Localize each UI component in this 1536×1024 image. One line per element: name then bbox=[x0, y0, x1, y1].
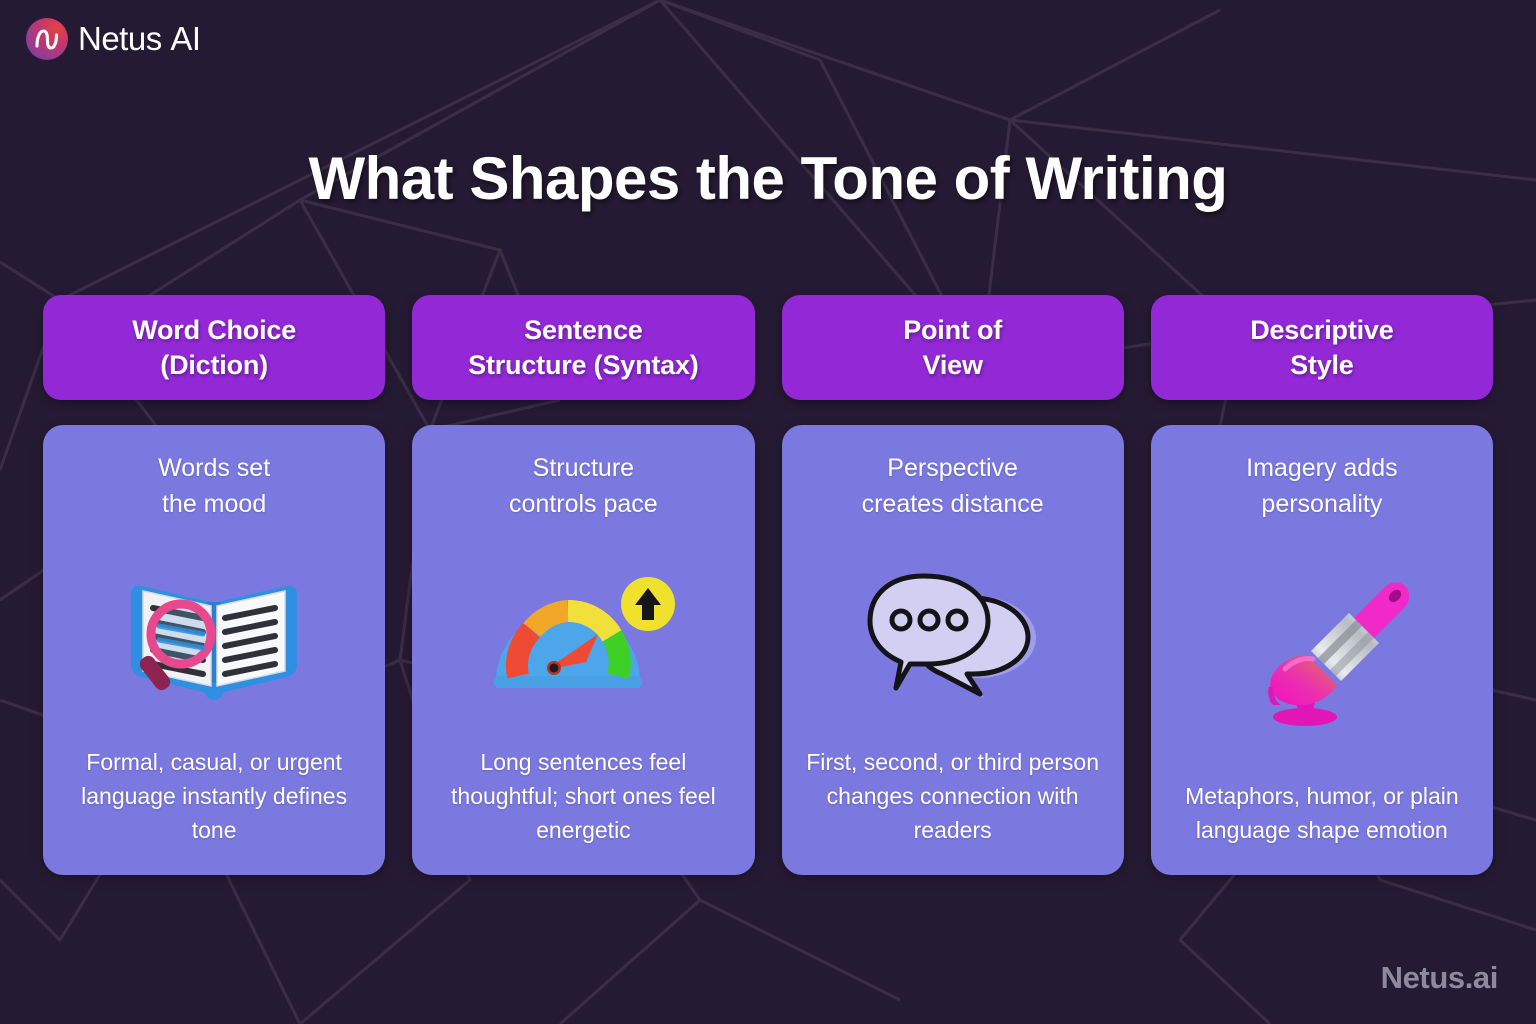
body-card-descriptive-style: Imagery adds personality bbox=[1151, 425, 1493, 875]
header-line-2: Structure (Syntax) bbox=[468, 350, 698, 380]
lead-line-2: creates distance bbox=[862, 490, 1044, 518]
card-icon-slot bbox=[426, 522, 740, 745]
page-title: What Shapes the Tone of Writing bbox=[0, 144, 1536, 213]
card-description: Formal, casual, or urgent language insta… bbox=[57, 745, 371, 851]
header-line-1: Descriptive bbox=[1250, 315, 1393, 345]
header-card-label: Point of View bbox=[893, 313, 1012, 382]
header-line-1: Word Choice bbox=[132, 315, 296, 345]
speech-bubbles-icon bbox=[858, 558, 1048, 708]
card-icon-slot bbox=[57, 522, 371, 745]
body-card-point-of-view: Perspective creates distance bbox=[782, 425, 1124, 875]
column-descriptive-style: Descriptive Style Imagery adds personali… bbox=[1151, 295, 1493, 875]
factor-columns: Word Choice (Diction) Words set the mood bbox=[43, 295, 1493, 875]
header-card-label: Sentence Structure (Syntax) bbox=[458, 313, 708, 382]
card-description: Metaphors, humor, or plain language shap… bbox=[1165, 779, 1479, 851]
column-word-choice: Word Choice (Diction) Words set the mood bbox=[43, 295, 385, 875]
card-description: First, second, or third person changes c… bbox=[796, 745, 1110, 851]
netus-n-mark-icon bbox=[26, 18, 68, 60]
lead-line-1: Words set bbox=[158, 454, 270, 482]
lead-line-2: controls pace bbox=[509, 490, 658, 518]
card-lead-text: Structure controls pace bbox=[509, 451, 658, 522]
paintbrush-icon bbox=[1227, 565, 1417, 735]
lead-line-1: Perspective bbox=[887, 454, 1018, 482]
card-description: Long sentences feel thoughtful; short on… bbox=[426, 745, 740, 851]
card-lead-text: Imagery adds personality bbox=[1246, 451, 1397, 522]
header-line-2: View bbox=[923, 350, 983, 380]
column-sentence-structure: Sentence Structure (Syntax) Structure co… bbox=[412, 295, 754, 875]
header-card-descriptive-style[interactable]: Descriptive Style bbox=[1151, 295, 1493, 400]
lead-line-2: the mood bbox=[162, 490, 266, 518]
header-line-2: (Diction) bbox=[160, 350, 268, 380]
brand-logo[interactable]: Netus AI bbox=[26, 18, 201, 60]
lead-line-1: Structure bbox=[533, 454, 634, 482]
open-book-magnifier-icon bbox=[119, 558, 309, 708]
card-icon-slot bbox=[796, 522, 1110, 745]
card-lead-text: Perspective creates distance bbox=[862, 451, 1044, 522]
header-line-1: Sentence bbox=[524, 315, 642, 345]
card-lead-text: Words set the mood bbox=[158, 451, 270, 522]
brand-logo-text: Netus AI bbox=[78, 20, 201, 58]
header-line-2: Style bbox=[1290, 350, 1354, 380]
brand-suffix: AI bbox=[170, 20, 200, 57]
column-point-of-view: Point of View Perspective creates distan… bbox=[782, 295, 1124, 875]
body-card-sentence-structure: Structure controls pace bbox=[412, 425, 754, 875]
header-line-1: Point of bbox=[903, 315, 1002, 345]
header-card-label: Descriptive Style bbox=[1240, 313, 1403, 382]
header-card-sentence-structure[interactable]: Sentence Structure (Syntax) bbox=[412, 295, 754, 400]
lead-line-2: personality bbox=[1261, 490, 1382, 518]
brand-name: Netus bbox=[78, 20, 162, 57]
header-card-point-of-view[interactable]: Point of View bbox=[782, 295, 1124, 400]
speedometer-gauge-icon bbox=[488, 558, 678, 708]
lead-line-1: Imagery adds bbox=[1246, 454, 1397, 482]
body-card-word-choice: Words set the mood bbox=[43, 425, 385, 875]
watermark-netus-ai: Netus.ai bbox=[1381, 960, 1498, 996]
header-card-word-choice[interactable]: Word Choice (Diction) bbox=[43, 295, 385, 400]
card-icon-slot bbox=[1165, 522, 1479, 779]
header-card-label: Word Choice (Diction) bbox=[122, 313, 306, 382]
